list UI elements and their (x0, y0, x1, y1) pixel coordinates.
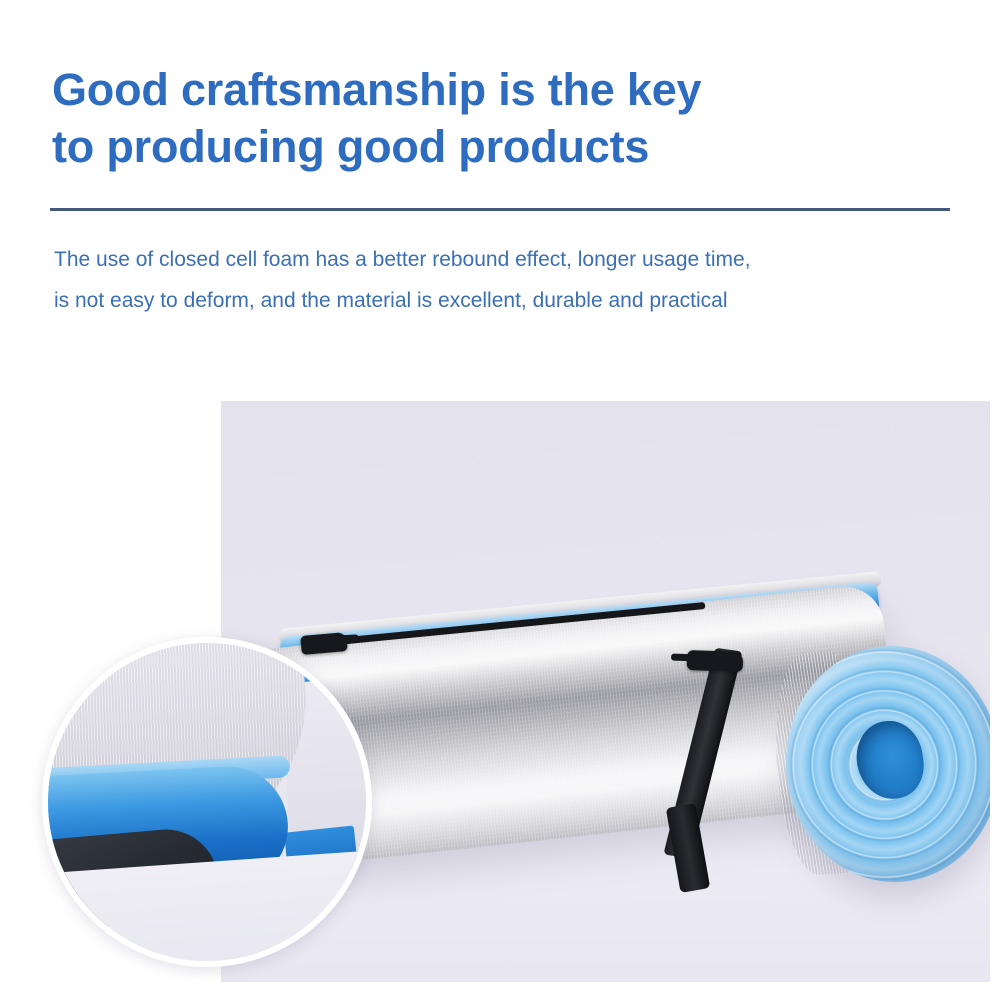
closeup-detail-circle (42, 637, 372, 967)
description-text: The use of closed cell foam has a better… (54, 240, 954, 322)
inset-strap-buckle (300, 655, 345, 673)
strap-buckle-left (300, 632, 347, 655)
title-divider (50, 208, 950, 211)
page-title: Good craftsmanship is the key to produci… (52, 62, 952, 175)
strap-buckle-right (687, 650, 744, 672)
